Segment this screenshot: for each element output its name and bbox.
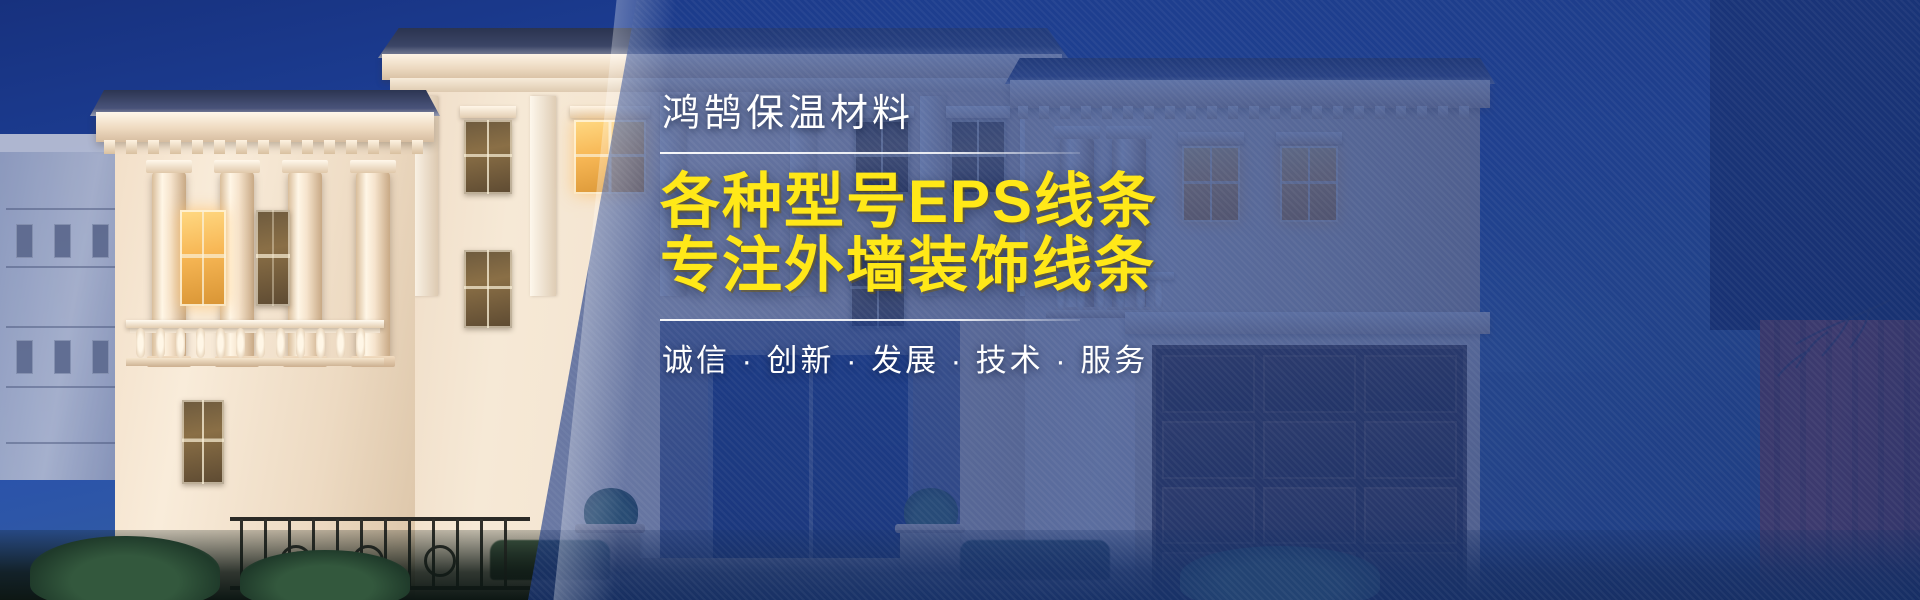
villa-window bbox=[256, 210, 290, 306]
villa-balustrade bbox=[130, 320, 380, 366]
headline: 各种型号EPS线条 专注外墙装饰线条 bbox=[660, 170, 1440, 300]
hero-banner: 鸿鹄保温材料 各种型号EPS线条 专注外墙装饰线条 诚信 · 创新 · 发展 ·… bbox=[0, 0, 1920, 600]
villa-window bbox=[464, 120, 512, 194]
banner-text-block: 鸿鹄保温材料 各种型号EPS线条 专注外墙装饰线条 诚信 · 创新 · 发展 ·… bbox=[660, 92, 1440, 380]
background-window bbox=[16, 340, 33, 374]
window-pediment bbox=[460, 106, 516, 118]
headline-line-1: 各种型号EPS线条 bbox=[660, 168, 1158, 235]
foreground-bush bbox=[240, 550, 410, 600]
tagline: 诚信 · 创新 · 发展 · 技术 · 服务 bbox=[662, 335, 1440, 380]
villa-left-cornice bbox=[96, 112, 434, 142]
villa-window bbox=[182, 400, 224, 484]
headline-line-2: 专注外墙装饰线条 bbox=[660, 234, 1440, 299]
brand-name: 鸿鹄保温材料 bbox=[662, 92, 1440, 138]
villa-window bbox=[464, 250, 512, 328]
background-window bbox=[16, 224, 33, 258]
villa-dentil-row bbox=[104, 140, 426, 154]
divider-bottom bbox=[660, 319, 1080, 321]
foreground-bush bbox=[30, 536, 220, 600]
villa-pilaster bbox=[530, 96, 556, 296]
villa-window-lit bbox=[180, 210, 226, 306]
divider-top bbox=[660, 152, 1080, 154]
